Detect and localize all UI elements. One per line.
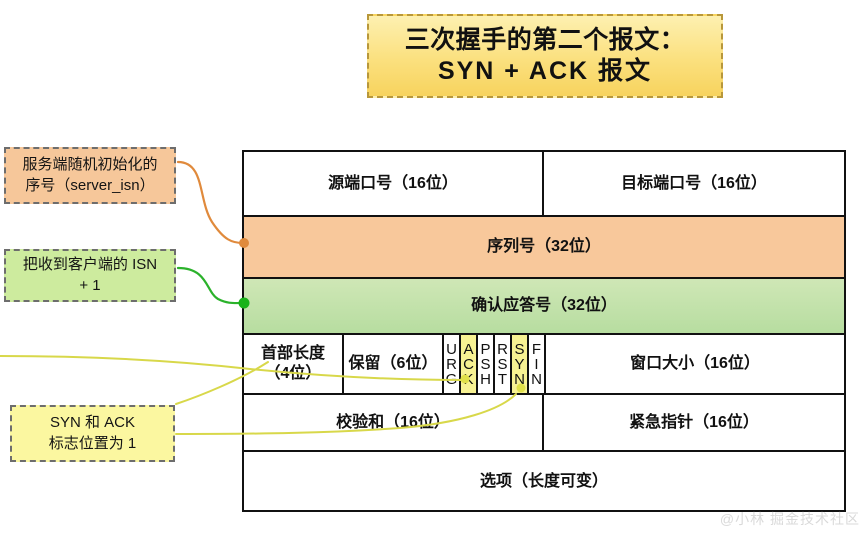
flag-rst-letter-1: R <box>497 342 508 357</box>
watermark: @小林 掘金技术社区 <box>720 509 860 529</box>
flag-rst: R S T <box>495 335 512 393</box>
tcp-row-checksum: 校验和（16位） 紧急指针（16位） <box>244 395 844 452</box>
tcp-row-flags: 首部长度 （4位） 保留（6位） U R G A C K P S H <box>244 335 844 395</box>
flag-rst-letter-2: S <box>497 357 508 372</box>
flag-urg: U R G <box>444 335 461 393</box>
flag-syn-letter-3: N <box>514 372 525 387</box>
callout-flags-line-1: SYN 和 ACK <box>50 413 135 433</box>
flag-syn: S Y N <box>512 335 529 393</box>
cell-urgent-pointer: 紧急指针（16位） <box>544 395 844 450</box>
header-length-line-2: （4位） <box>261 364 325 384</box>
flag-psh-letter-1: P <box>480 342 491 357</box>
connector-ack-number <box>178 268 243 303</box>
flag-urg-letter-2: R <box>446 357 458 372</box>
flag-ack-letter-1: A <box>463 342 474 357</box>
callout-flags-note: SYN 和 ACK 标志位置为 1 <box>10 405 175 462</box>
tcp-row-ports: 源端口号（16位） 目标端口号（16位） <box>244 152 844 217</box>
tcp-row-sequence-number: 序列号（32位） <box>244 217 844 279</box>
flag-syn-letter-2: Y <box>514 357 525 372</box>
cell-destination-port: 目标端口号（16位） <box>544 152 844 215</box>
flag-psh-letter-3: H <box>480 372 491 387</box>
title-banner: 三次握手的第二个报文： SYN + ACK 报文 <box>367 14 723 98</box>
cell-sequence-number: 序列号（32位） <box>244 217 844 277</box>
flag-psh-letter-2: S <box>480 357 491 372</box>
cell-window-size: 窗口大小（16位） <box>546 335 844 393</box>
flag-psh: P S H <box>478 335 495 393</box>
flag-fin-letter-2: I <box>531 357 542 372</box>
cell-reserved: 保留（6位） <box>344 335 444 393</box>
callout-flags-line-2: 标志位置为 1 <box>49 434 137 454</box>
connector-sequence-number <box>178 162 243 243</box>
tcp-header-diagram: 源端口号（16位） 目标端口号（16位） 序列号（32位） 确认应答号（32位）… <box>242 150 846 512</box>
title-line-1: 三次握手的第二个报文： <box>405 26 686 55</box>
callout-seq-line-1: 服务端随机初始化的 <box>22 155 157 175</box>
flag-urg-letter-1: U <box>446 342 458 357</box>
flag-ack-letter-3: K <box>463 372 474 387</box>
flag-urg-letter-3: G <box>446 372 458 387</box>
title-line-2: SYN + ACK 报文 <box>438 57 652 86</box>
callout-ack-line-2: + 1 <box>79 276 100 296</box>
tcp-row-acknowledgement-number: 确认应答号（32位） <box>244 279 844 335</box>
flag-fin-letter-3: N <box>531 372 542 387</box>
cell-checksum: 校验和（16位） <box>244 395 544 450</box>
header-length-line-1: 首部长度 <box>261 344 325 364</box>
flag-syn-letter-1: S <box>514 342 525 357</box>
flag-ack: A C K <box>461 335 478 393</box>
flag-fin-letter-1: F <box>531 342 542 357</box>
flag-fin: F I N <box>529 335 546 393</box>
cell-acknowledgement-number: 确认应答号（32位） <box>244 279 844 333</box>
flag-rst-letter-3: T <box>497 372 508 387</box>
callout-ack-number-note: 把收到客户端的 ISN + 1 <box>4 249 176 302</box>
tcp-row-options: 选项（长度可变） <box>244 452 844 512</box>
cell-source-port: 源端口号（16位） <box>244 152 544 215</box>
callout-ack-line-1: 把收到客户端的 ISN <box>23 255 157 275</box>
callout-seq-line-2: 序号（server_isn） <box>25 176 154 196</box>
cell-options: 选项（长度可变） <box>244 452 844 512</box>
callout-sequence-number-note: 服务端随机初始化的 序号（server_isn） <box>4 147 176 204</box>
cell-header-length: 首部长度 （4位） <box>244 335 344 393</box>
flag-ack-letter-2: C <box>463 357 474 372</box>
